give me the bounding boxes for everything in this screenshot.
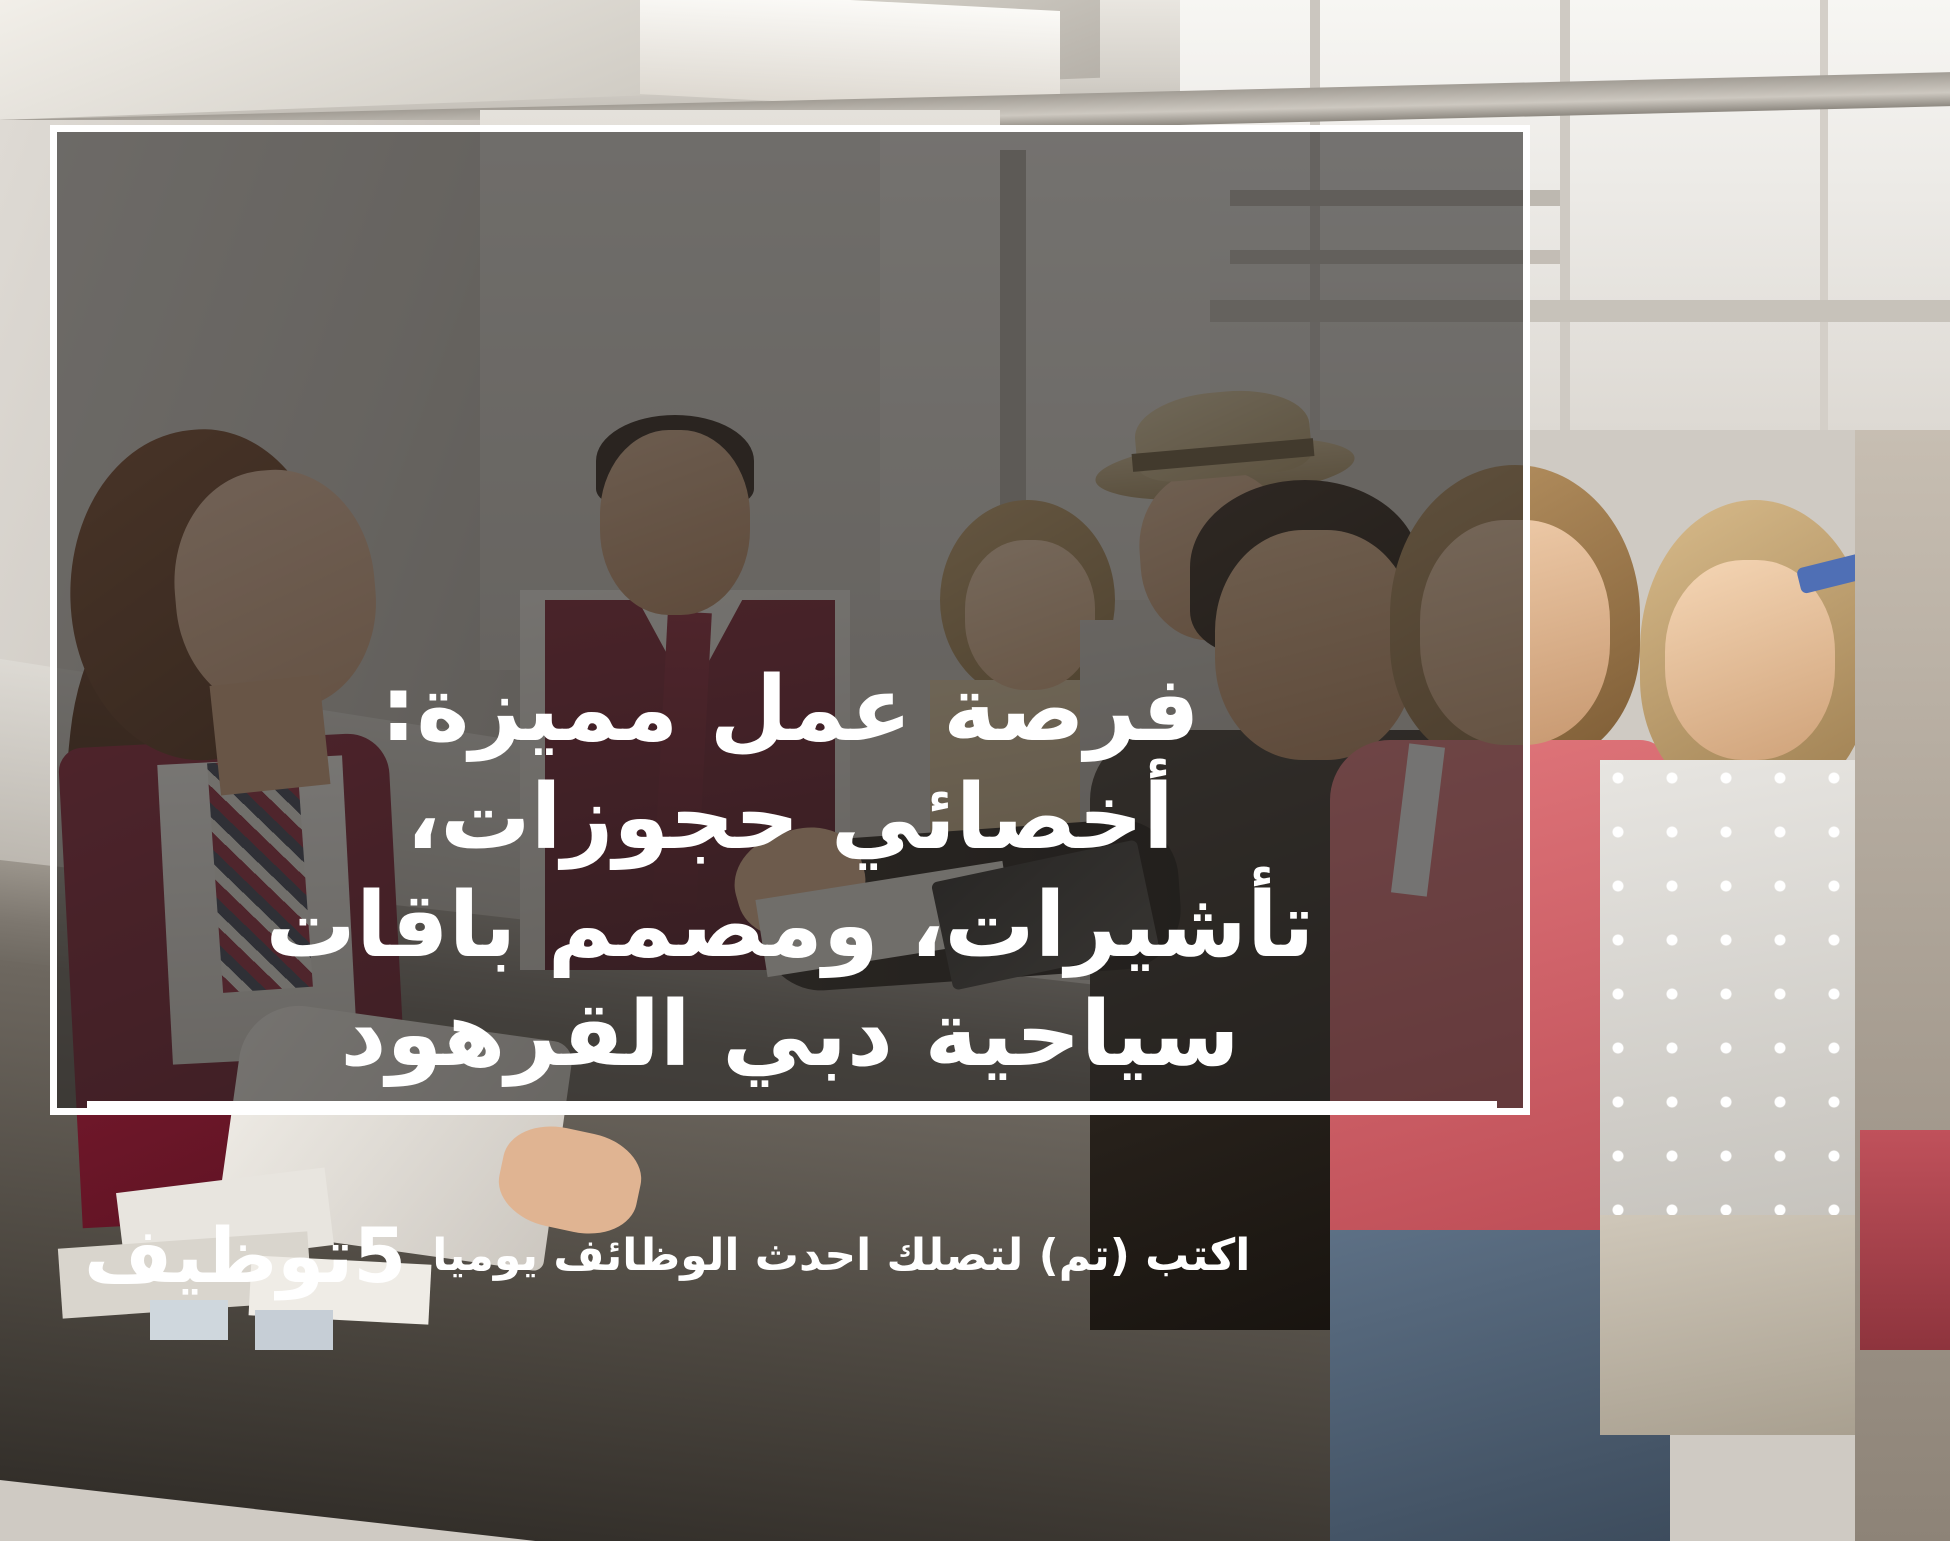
window-mullion (1820, 0, 1828, 430)
footer-bar: 5توظيف اكتب (تم) لتصلك احدث الوظائف يومي… (50, 1196, 1530, 1316)
footer-tagline: اكتب (تم) لتصلك احدث الوظائف يوميا (432, 1234, 1250, 1278)
headline-card: فرصة عمل مميزة: أخصائي حجوزات، تأشيرات، … (50, 125, 1530, 1115)
far-right-person-bag (1860, 1130, 1950, 1350)
headline-line-4: سياحية دبي القرهود (87, 987, 1493, 1089)
headline-line-2: أخصائي حجوزات، (87, 770, 1493, 872)
headline-line-3: تأشيرات، ومصمم باقات (87, 878, 1493, 980)
poster-image: فرصة عمل مميزة: أخصائي حجوزات، تأشيرات، … (0, 0, 1950, 1541)
far-right-person (1855, 430, 1950, 1541)
luggage-tag (255, 1310, 333, 1350)
headline-divider (87, 1101, 1497, 1108)
window-mullion (1560, 0, 1570, 430)
headline-line-1: فرصة عمل مميزة: (87, 662, 1493, 764)
brand-logo-text: 5توظيف (84, 1218, 406, 1294)
